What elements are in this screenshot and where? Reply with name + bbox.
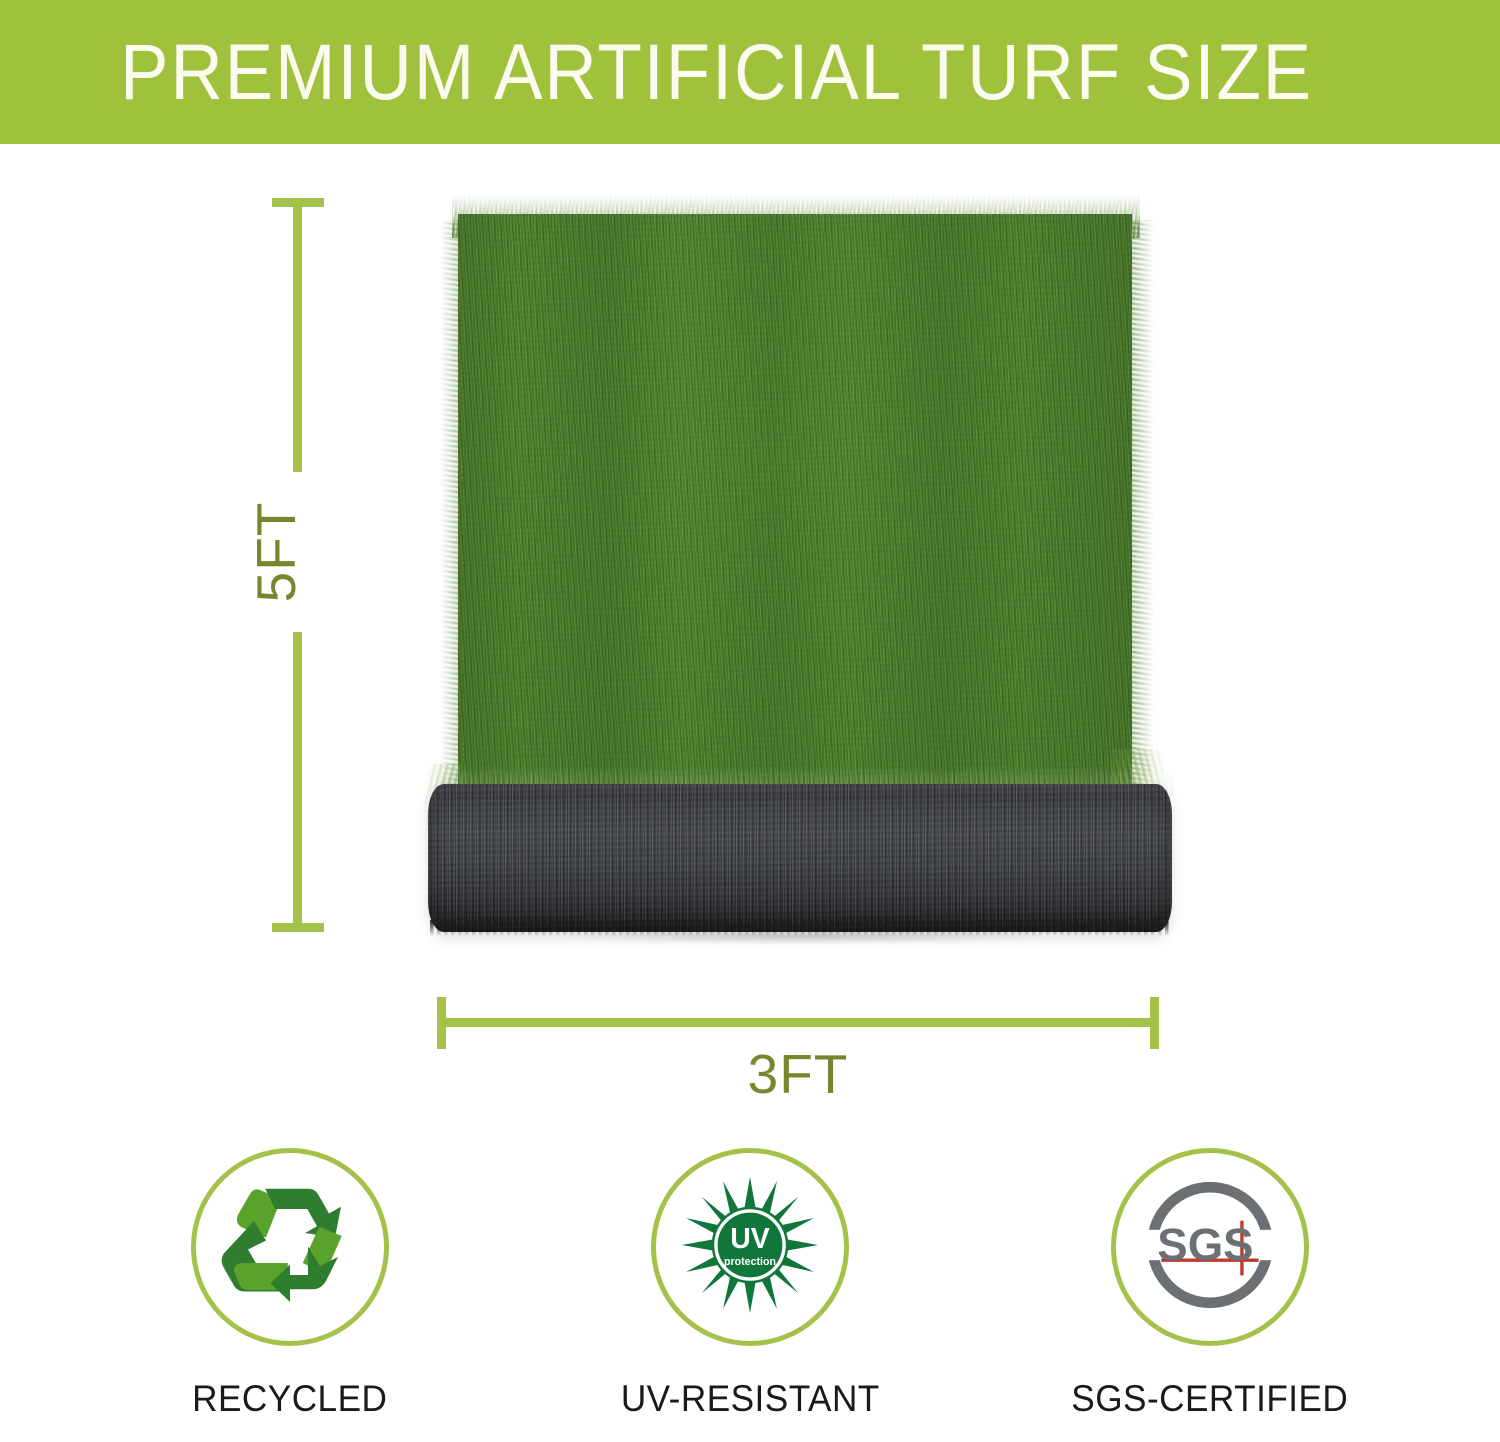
svg-text:UV: UV: [730, 1222, 770, 1254]
turf-roll-shadow: [452, 930, 1152, 952]
badge-sgs-certified: SGS SGS-CERTIFIED: [980, 1148, 1440, 1420]
height-dimension-label: 5FT: [244, 472, 308, 632]
badge-ring-uv-resistant: UV protection: [651, 1148, 849, 1346]
header-banner: PREMIUM ARTIFICIAL TURF SIZE: [0, 0, 1500, 144]
product-image-stage: [0, 144, 1500, 1004]
badge-uv-resistant: UV protection UV-RESISTANT: [520, 1148, 980, 1420]
badge-ring-recycled: [191, 1148, 389, 1346]
svg-text:protection: protection: [724, 1255, 776, 1267]
svg-text:SGS: SGS: [1157, 1219, 1253, 1270]
width-dimension-label: 3FT: [437, 1042, 1159, 1106]
uv-protection-sun-icon: UV protection: [679, 1174, 821, 1321]
badge-label-recycled: RECYCLED: [192, 1378, 387, 1420]
width-dimension-line: [437, 1018, 1159, 1027]
height-dimension-cap-bottom: [272, 923, 324, 932]
badge-label-sgs-certified: SGS-CERTIFIED: [1071, 1378, 1348, 1420]
sgs-certified-icon: SGS: [1134, 1169, 1286, 1326]
turf-grass-panel: [458, 214, 1132, 804]
recycle-icon: [215, 1170, 365, 1325]
feature-badges: RECYCLED: [0, 1148, 1500, 1442]
badge-recycled: RECYCLED: [60, 1148, 520, 1420]
badge-ring-sgs-certified: SGS: [1111, 1148, 1309, 1346]
turf-roll-backing: [428, 784, 1172, 932]
badge-label-uv-resistant: UV-RESISTANT: [621, 1378, 880, 1420]
page-title: PREMIUM ARTIFICIAL TURF SIZE: [120, 24, 1325, 120]
